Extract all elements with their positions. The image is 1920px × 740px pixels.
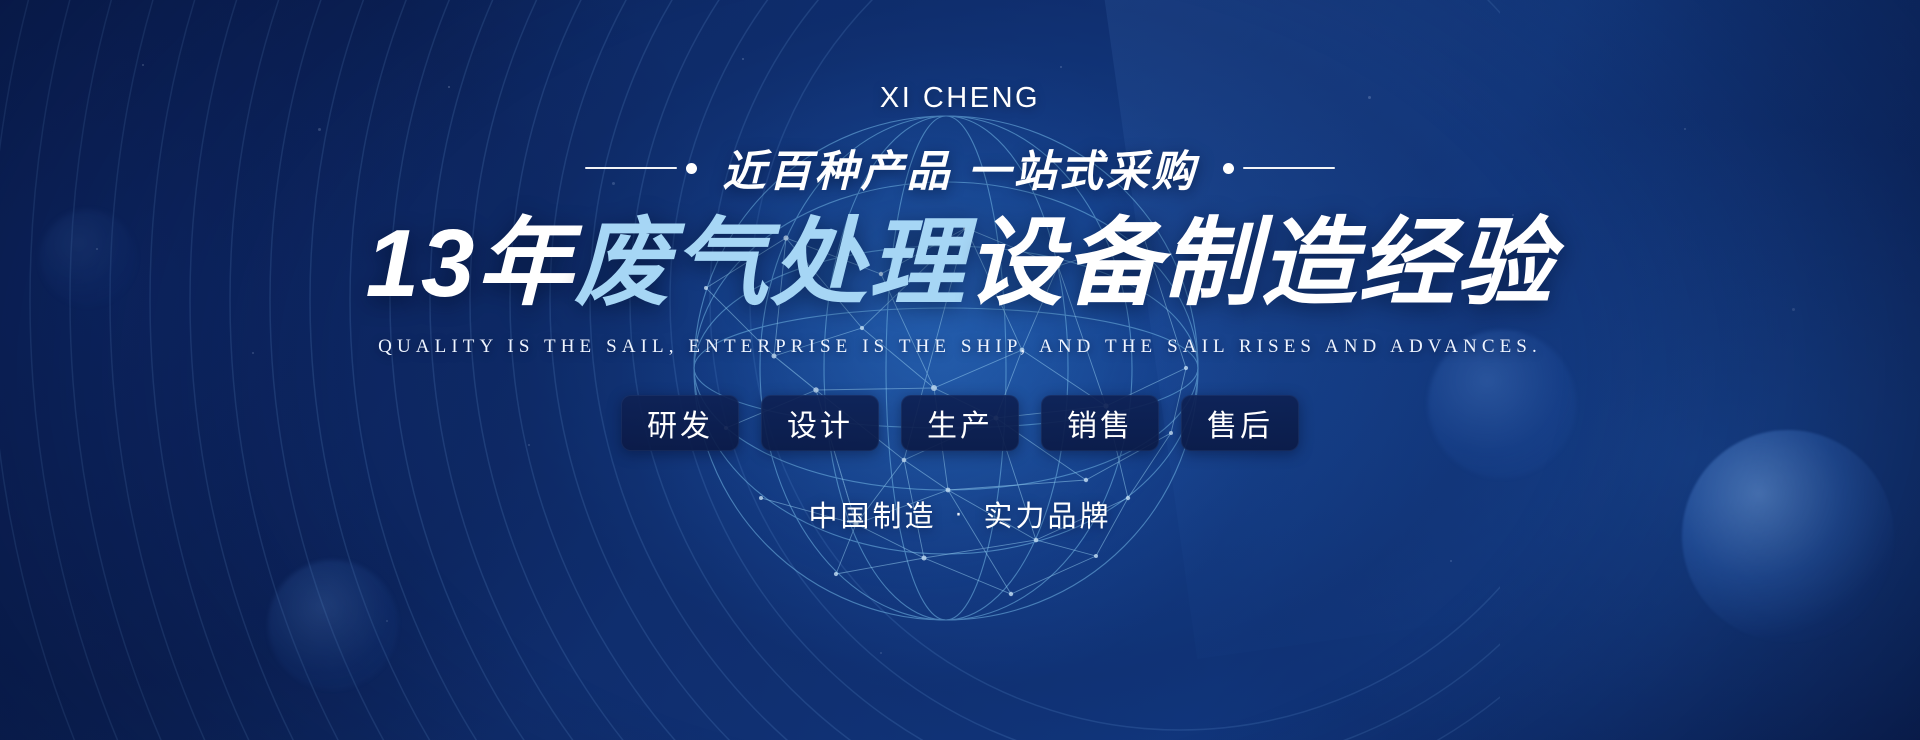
headline-years: 13年 [366,210,575,317]
service-pill-rd[interactable]: 研发 [621,395,739,451]
banner-tagline-en: QUALITY IS THE SAIL, ENTERPRISE IS THE S… [378,336,1542,358]
service-pill-list: 研发 设计 生产 销售 售后 [621,395,1299,451]
banner-headline: 13年废气处理设备制造经验 [366,205,1555,322]
banner-subtitle: 近百种产品 一站式采购 [723,137,1198,199]
service-pill-design[interactable]: 设计 [761,395,879,451]
banner-content: XI CHENG 近百种产品 一站式采购 13年废气处理设备制造经验 QUALI… [0,0,1920,740]
headline-highlight: 废气处理 [574,210,966,317]
brand-name-en: XI CHENG [880,82,1040,115]
footer-separator-dot: · [955,500,966,528]
banner-footer-line: 中国制造 · 实力品牌 [808,493,1111,535]
left-rule-decoration [585,163,697,174]
service-pill-sales[interactable]: 销售 [1041,395,1159,451]
service-pill-production[interactable]: 生产 [901,395,1019,451]
headline-rest: 设备制造经验 [966,210,1554,317]
footer-left-text: 中国制造 [808,493,936,535]
footer-right-text: 实力品牌 [984,493,1112,535]
subtitle-row: 近百种产品 一站式采购 [585,137,1336,199]
right-rule-decoration [1223,163,1335,174]
service-pill-aftersales[interactable]: 售后 [1181,395,1299,451]
hero-banner: XI CHENG 近百种产品 一站式采购 13年废气处理设备制造经验 QUALI… [0,0,1920,740]
